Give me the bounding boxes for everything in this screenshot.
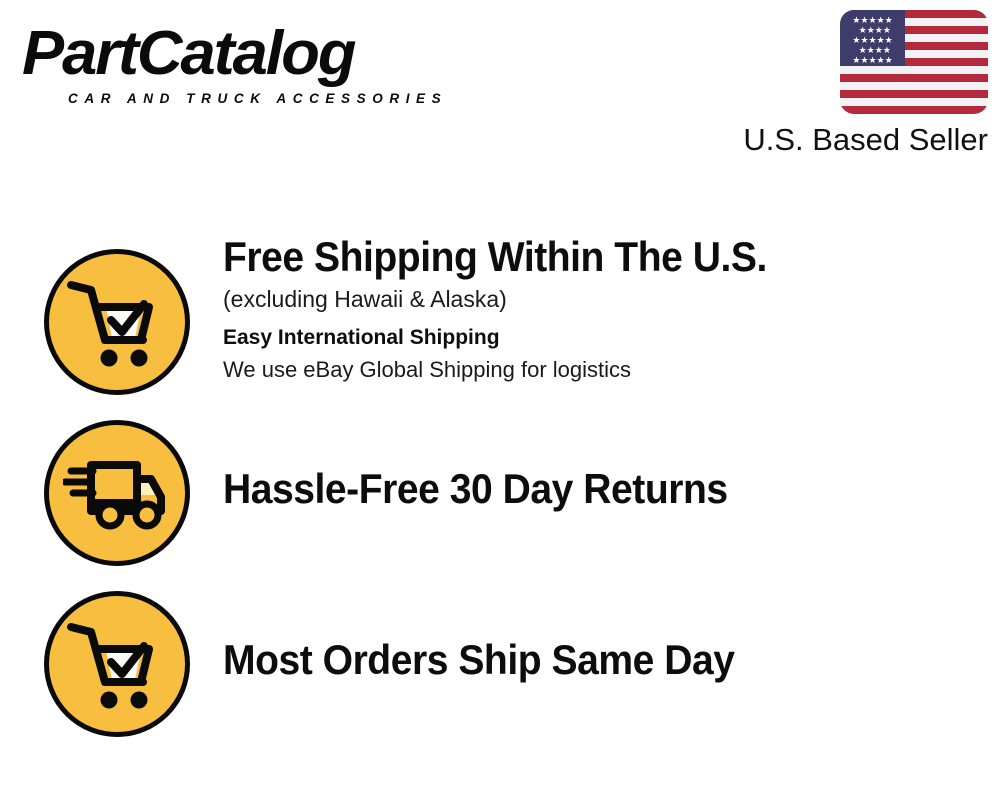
- shopping-cart-check-icon: [44, 249, 190, 395]
- brand-wordmark: PartCatalog: [22, 18, 501, 90]
- feature-subline: (excluding Hawaii & Alaska): [223, 282, 990, 316]
- feature-row: Most Orders Ship Same Day: [0, 591, 1000, 741]
- feature-headline: Hassle-Free 30 Day Returns: [223, 464, 936, 514]
- shopping-cart-check-icon: [44, 591, 190, 737]
- feature-row: Free Shipping Within The U.S. (excluding…: [0, 228, 1000, 418]
- delivery-truck-icon: [44, 420, 190, 566]
- brand-tagline: CAR AND TRUCK ACCESSORIES: [68, 91, 492, 106]
- feature-text: Free Shipping Within The U.S. (excluding…: [223, 232, 990, 386]
- feature-headline: Most Orders Ship Same Day: [223, 635, 936, 685]
- us-based-seller-label: U.S. Based Seller: [698, 121, 988, 159]
- feature-row: Hassle-Free 30 Day Returns: [0, 420, 1000, 570]
- promo-banner: PartCatalog CAR AND TRUCK ACCESSORIES ★★…: [0, 0, 1000, 800]
- feature-text: Hassle-Free 30 Day Returns: [223, 464, 990, 514]
- us-based-seller-block: ★★★★★ ★★★★ ★★★★★ ★★★★ ★★★★★ U.S. Based S…: [698, 10, 988, 159]
- brand-logo: PartCatalog CAR AND TRUCK ACCESSORIES: [22, 18, 492, 118]
- feature-text: Most Orders Ship Same Day: [223, 635, 990, 685]
- feature-headline: Free Shipping Within The U.S.: [223, 232, 936, 282]
- us-flag-icon: ★★★★★ ★★★★ ★★★★★ ★★★★ ★★★★★: [840, 10, 988, 114]
- feature-subline-plain: We use eBay Global Shipping for logistic…: [223, 354, 990, 386]
- feature-subline-bold: Easy International Shipping: [223, 322, 990, 354]
